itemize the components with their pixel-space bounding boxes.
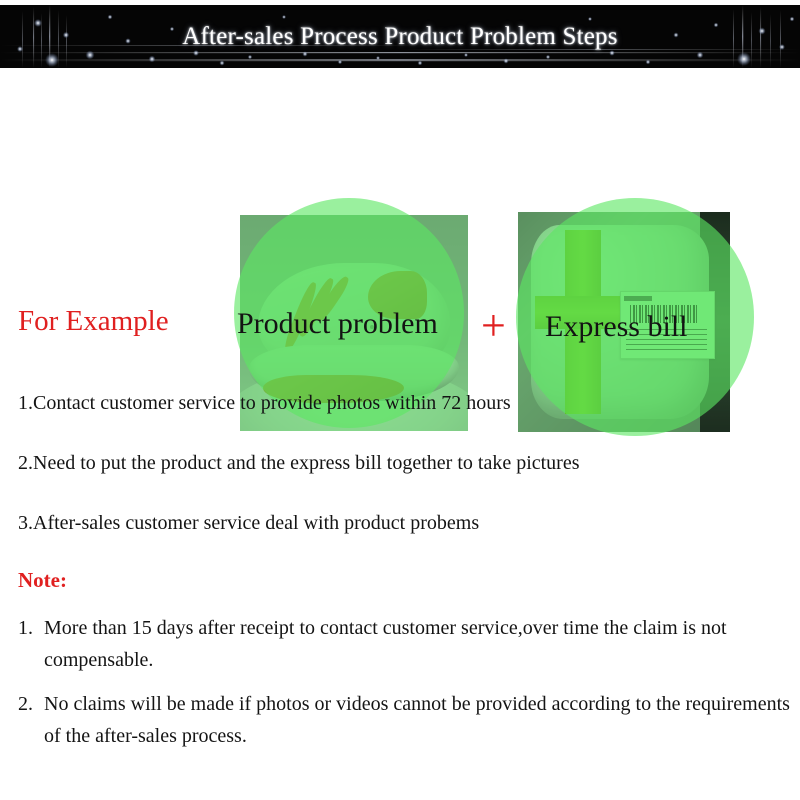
note-list: 1.More than 15 days after receipt to con… (18, 612, 790, 764)
page-title: After-sales Process Product Problem Step… (0, 5, 800, 68)
steps-list: 1.Contact customer service to provide ph… (18, 392, 788, 572)
step-item: 2.Need to put the product and the expres… (18, 452, 788, 475)
shipping-label-header-bar (624, 296, 652, 301)
note-item-text: More than 15 days after receipt to conta… (44, 617, 727, 671)
example-row: For Example Product problem + Express (0, 100, 800, 350)
step-item: 1.Contact customer service to provide ph… (18, 392, 788, 415)
for-example-label: For Example (18, 305, 169, 338)
note-item: 1.More than 15 days after receipt to con… (18, 612, 790, 676)
note-heading: Note: (18, 568, 67, 593)
note-item-number: 1. (18, 612, 44, 644)
note-item: 2.No claims will be made if photos or vi… (18, 688, 790, 752)
product-problem-caption: Product problem (237, 307, 438, 341)
note-item-text: No claims will be made if photos or vide… (44, 693, 790, 747)
step-item: 3.After-sales customer service deal with… (18, 512, 788, 535)
note-item-number: 2. (18, 688, 44, 720)
plus-icon: + (481, 304, 506, 348)
express-bill-caption: Express bill (545, 310, 688, 344)
header-banner: After-sales Process Product Problem Step… (0, 5, 800, 68)
